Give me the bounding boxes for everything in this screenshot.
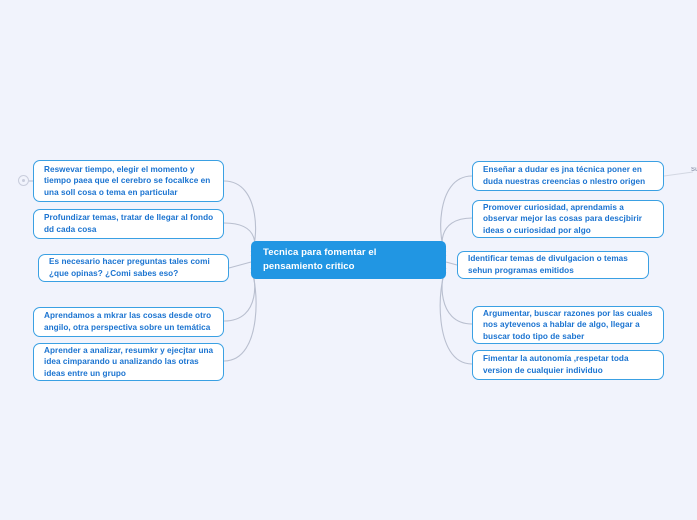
connector-right-1	[441, 176, 472, 252]
node-label: Argumentar, buscar razones por las cuale…	[483, 308, 654, 343]
node-label: Identificar temas de divulgacion o temas…	[468, 253, 639, 276]
mindmap-node-left-2[interactable]: Profundizar temas, tratar de llegar al f…	[33, 209, 224, 239]
collapse-toggle-icon[interactable]	[18, 175, 29, 186]
central-node-label: Tecnica para fomentar el pensamiento cri…	[263, 246, 434, 275]
node-label: Aprender a analizar, resumkr y ejecjtar …	[44, 345, 214, 380]
connector-left-5	[224, 272, 256, 361]
mindmap-node-left-4[interactable]: Aprendamos a mkrar las cosas desde otro …	[33, 307, 224, 337]
mindmap-node-right-3[interactable]: Identificar temas de divulgacion o temas…	[457, 251, 649, 279]
node-label: Promover curiosidad, aprendamis a observ…	[483, 202, 654, 237]
connector-right-edge-stub	[664, 172, 693, 176]
node-label: Enseñar a dudar es jna técnica poner en …	[483, 164, 654, 187]
node-label: Aprendamos a mkrar las cosas desde otro …	[44, 310, 214, 333]
mindmap-node-left-3[interactable]: Es necesario hacer preguntas tales comi …	[38, 254, 229, 282]
node-label: Fimentar la autonomía ,respetar toda ver…	[483, 353, 654, 376]
mindmap-canvas: Reswevar tiempo, elegir el momento y tie…	[0, 0, 697, 520]
mindmap-node-left-5[interactable]: Aprender a analizar, resumkr y ejecjtar …	[33, 343, 224, 381]
mindmap-node-right-1[interactable]: Enseñar a dudar es jna técnica poner en …	[472, 161, 664, 191]
connector-right-3	[446, 262, 457, 265]
mindmap-central-node[interactable]: Tecnica para fomentar el pensamiento cri…	[251, 241, 446, 279]
clipped-edge-node-label[interactable]: Su	[691, 167, 697, 173]
mindmap-node-right-2[interactable]: Promover curiosidad, aprendamis a observ…	[472, 200, 664, 238]
connector-left-1	[224, 181, 256, 252]
node-label: Es necesario hacer preguntas tales comi …	[49, 256, 219, 279]
node-label: Reswevar tiempo, elegir el momento y tie…	[44, 164, 214, 199]
mindmap-node-left-1[interactable]: Reswevar tiempo, elegir el momento y tie…	[33, 160, 224, 202]
mindmap-node-right-5[interactable]: Fimentar la autonomía ,respetar toda ver…	[472, 350, 664, 380]
mindmap-node-right-4[interactable]: Argumentar, buscar razones por las cuale…	[472, 306, 664, 344]
node-label: Profundizar temas, tratar de llegar al f…	[44, 212, 214, 235]
connector-left-3	[229, 262, 251, 268]
connector-right-5	[440, 272, 472, 364]
